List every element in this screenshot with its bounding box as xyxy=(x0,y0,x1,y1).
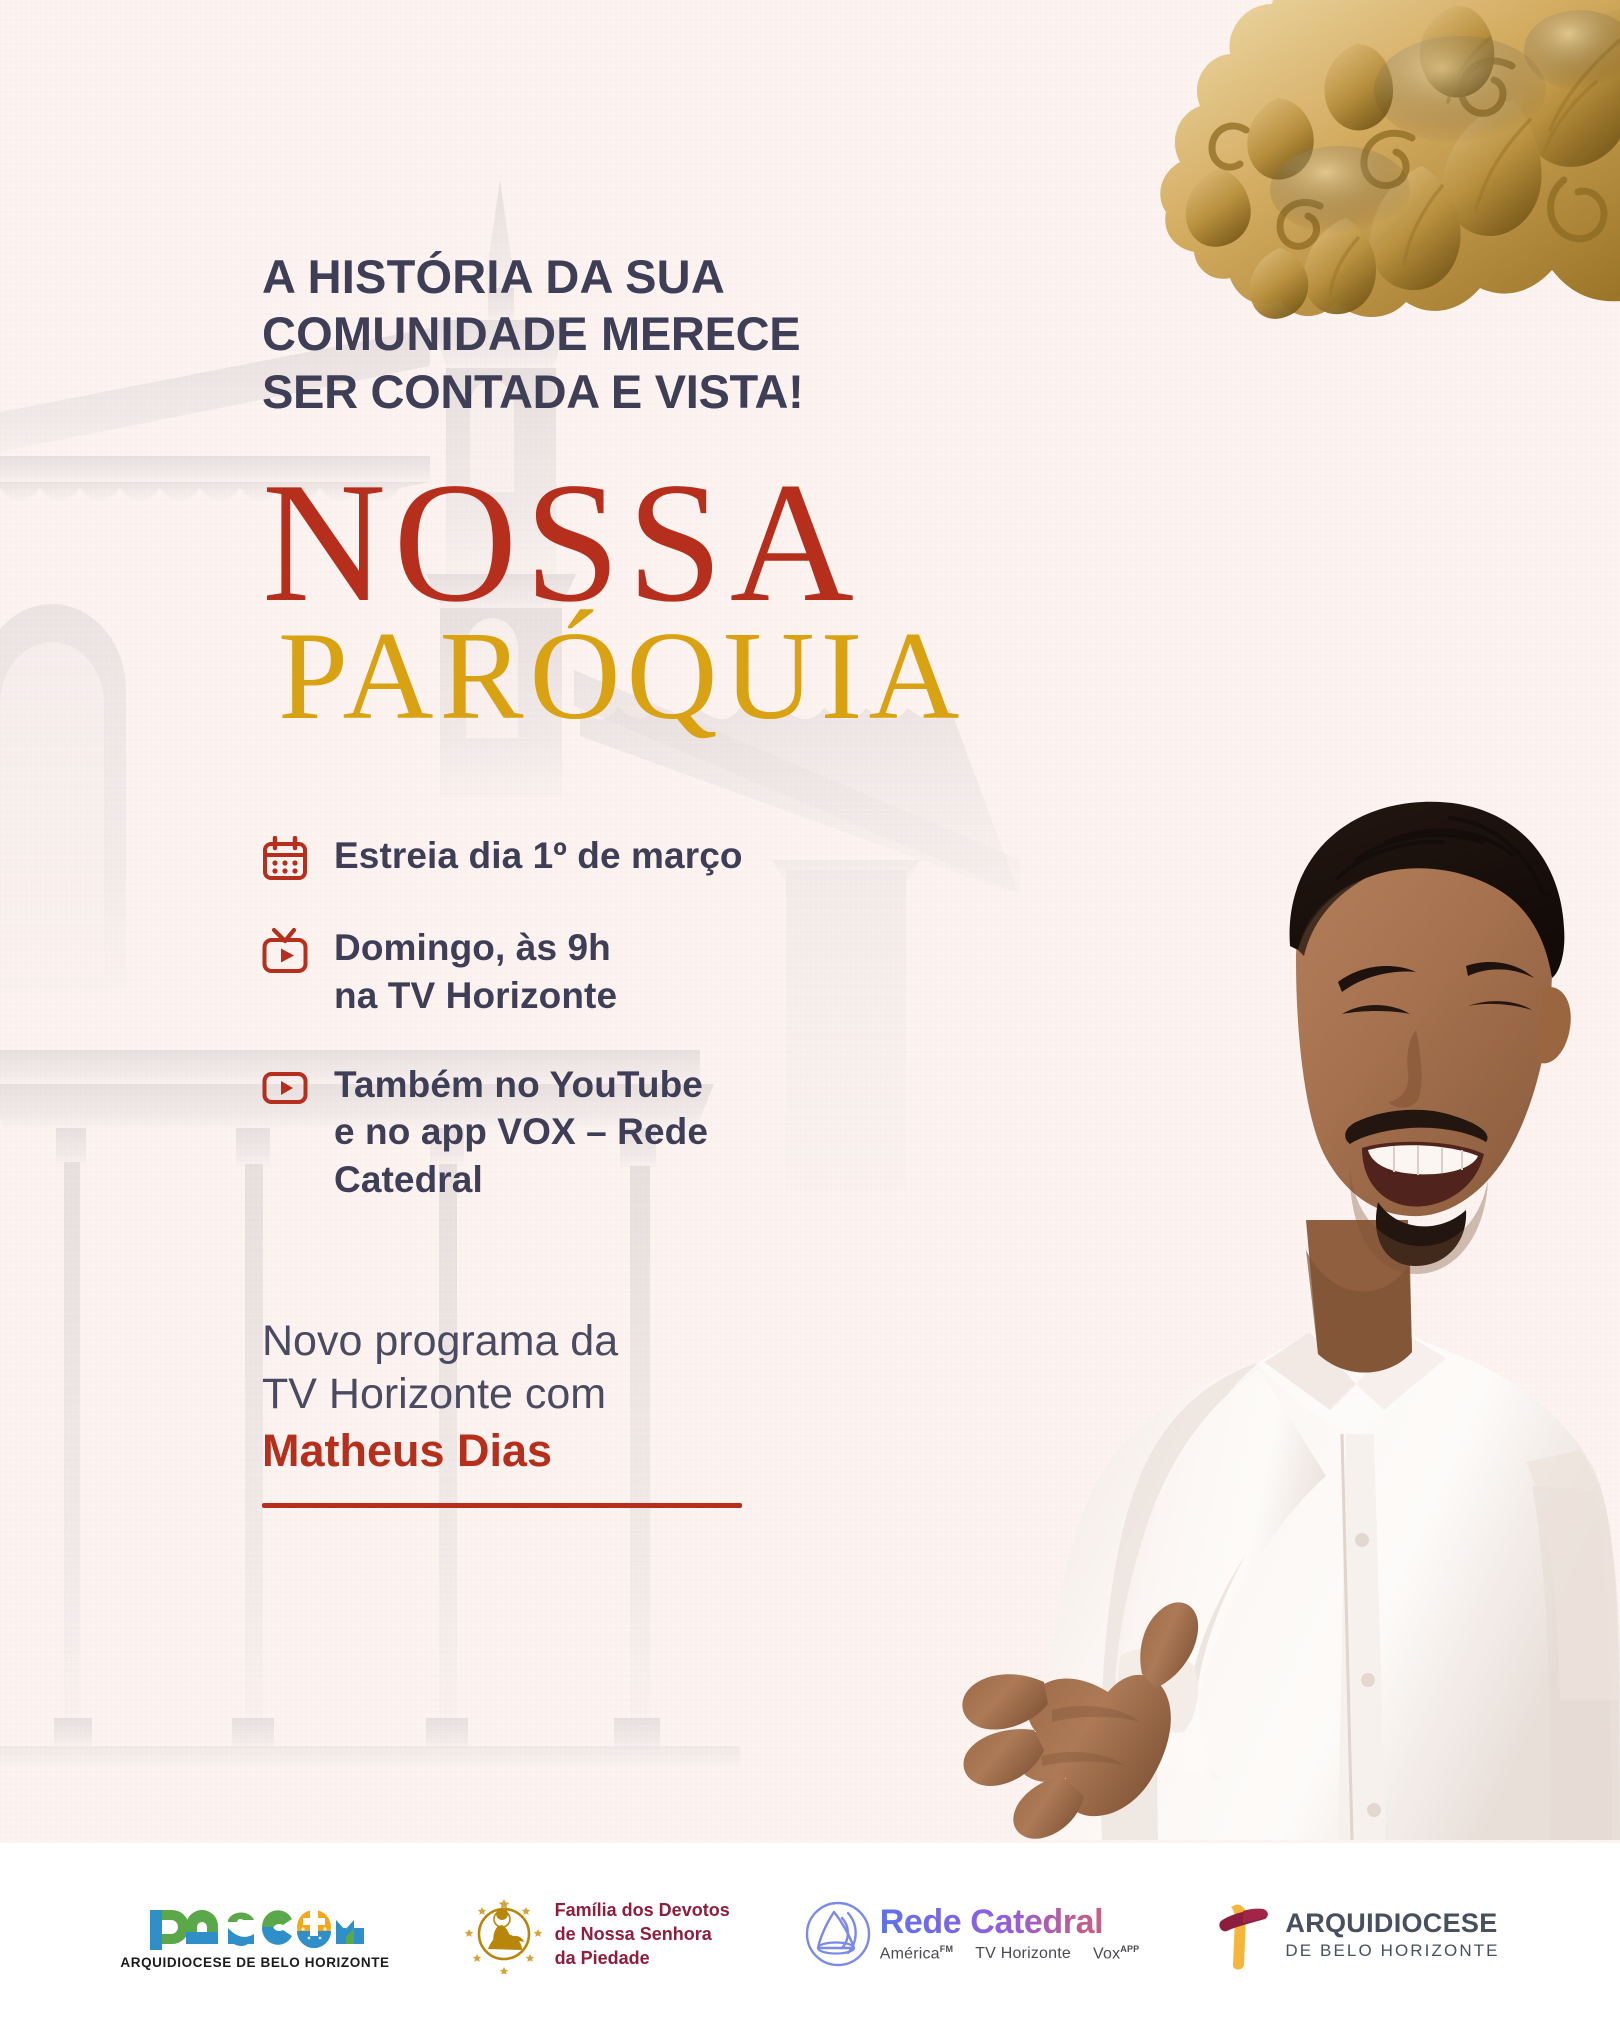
list-item: Domingo, às 9h na TV Horizonte xyxy=(262,924,1022,1019)
list-item: Também no YouTube e no app VOX – Rede Ca… xyxy=(262,1061,1022,1203)
program-title: NOSSA PARÓQUIA xyxy=(262,464,1022,740)
poster-content: A HISTÓRIA DA SUA COMUNIDADE MERECE SER … xyxy=(262,248,1022,1508)
list-item-label: Domingo, às 9h na TV Horizonte xyxy=(334,924,617,1019)
youtube-icon xyxy=(262,1065,308,1111)
headline-line-2-strong: MERECE xyxy=(601,307,800,360)
subbrand-vox: VoxAPP xyxy=(1093,1944,1139,1963)
presenter-credit-lines: Novo programa da TV Horizonte com xyxy=(262,1315,1022,1421)
subbrand-tv-horizonte: TV Horizonte xyxy=(975,1945,1071,1963)
broadcast-info-list: Estreia dia 1º de março Domingo, às 9h n… xyxy=(262,832,1022,1203)
pascom-wordmark-icon xyxy=(146,1898,364,1950)
america-fm-sup: FM xyxy=(940,1944,953,1954)
logo-arquidiocese: ARQUIDIOCESE DE BELO HORIZONTE xyxy=(1213,1895,1499,1973)
credit-divider xyxy=(262,1503,742,1508)
poster-root: A HISTÓRIA DA SUA COMUNIDADE MERECE SER … xyxy=(0,0,1620,2025)
familia-devotos-label: Família dos Devotos de Nossa Senhora da … xyxy=(555,1898,730,1971)
vox-app-sup: APP xyxy=(1120,1944,1139,1954)
arquidiocese-main-label: ARQUIDIOCESE xyxy=(1285,1910,1499,1937)
headline: A HISTÓRIA DA SUA COMUNIDADE MERECE SER … xyxy=(262,248,1022,420)
footer-logo-bar: ARQUIDIOCESE DE BELO HORIZONTE xyxy=(0,1843,1620,2025)
gold-baroque-ornament xyxy=(1160,0,1620,370)
tv-play-icon xyxy=(262,928,308,974)
arquidiocese-sub-label: DE BELO HORIZONTE xyxy=(1285,1942,1499,1959)
arquidiocese-cross-icon xyxy=(1213,1895,1279,1973)
nossa-senhora-medallion-icon xyxy=(464,1894,544,1974)
list-item-label: Também no YouTube e no app VOX – Rede Ca… xyxy=(334,1061,708,1203)
presenter-name: Matheus Dias xyxy=(262,1423,1022,1479)
logo-pascom: ARQUIDIOCESE DE BELO HORIZONTE xyxy=(120,1898,389,1970)
headline-line-2-normal: COMUNIDADE xyxy=(262,307,601,360)
rede-catedral-wordmark: Rede Catedral xyxy=(880,1905,1140,1939)
subbrand-america: AméricaFM xyxy=(880,1944,954,1963)
logo-familia-devotos: Família dos Devotos de Nossa Senhora da … xyxy=(464,1894,730,1974)
logo-rede-catedral: Rede Catedral AméricaFM TV Horizonte Vox… xyxy=(804,1900,1140,1968)
program-title-primary: NOSSA xyxy=(262,464,1022,622)
rede-catedral-bell-icon xyxy=(804,1900,872,1968)
list-item: Estreia dia 1º de março xyxy=(262,832,1022,882)
headline-line-3: SER CONTADA E VISTA! xyxy=(262,365,803,418)
pascom-subtitle: ARQUIDIOCESE DE BELO HORIZONTE xyxy=(120,1955,389,1970)
program-title-secondary: PARÓQUIA xyxy=(278,614,1022,740)
headline-line-1: A HISTÓRIA DA SUA xyxy=(262,250,725,303)
calendar-icon xyxy=(262,836,308,882)
rede-catedral-subbrands: AméricaFM TV Horizonte VoxAPP xyxy=(880,1944,1140,1963)
list-item-label: Estreia dia 1º de março xyxy=(334,832,743,879)
presenter-credit: Novo programa da TV Horizonte com Matheu… xyxy=(262,1315,1022,1508)
